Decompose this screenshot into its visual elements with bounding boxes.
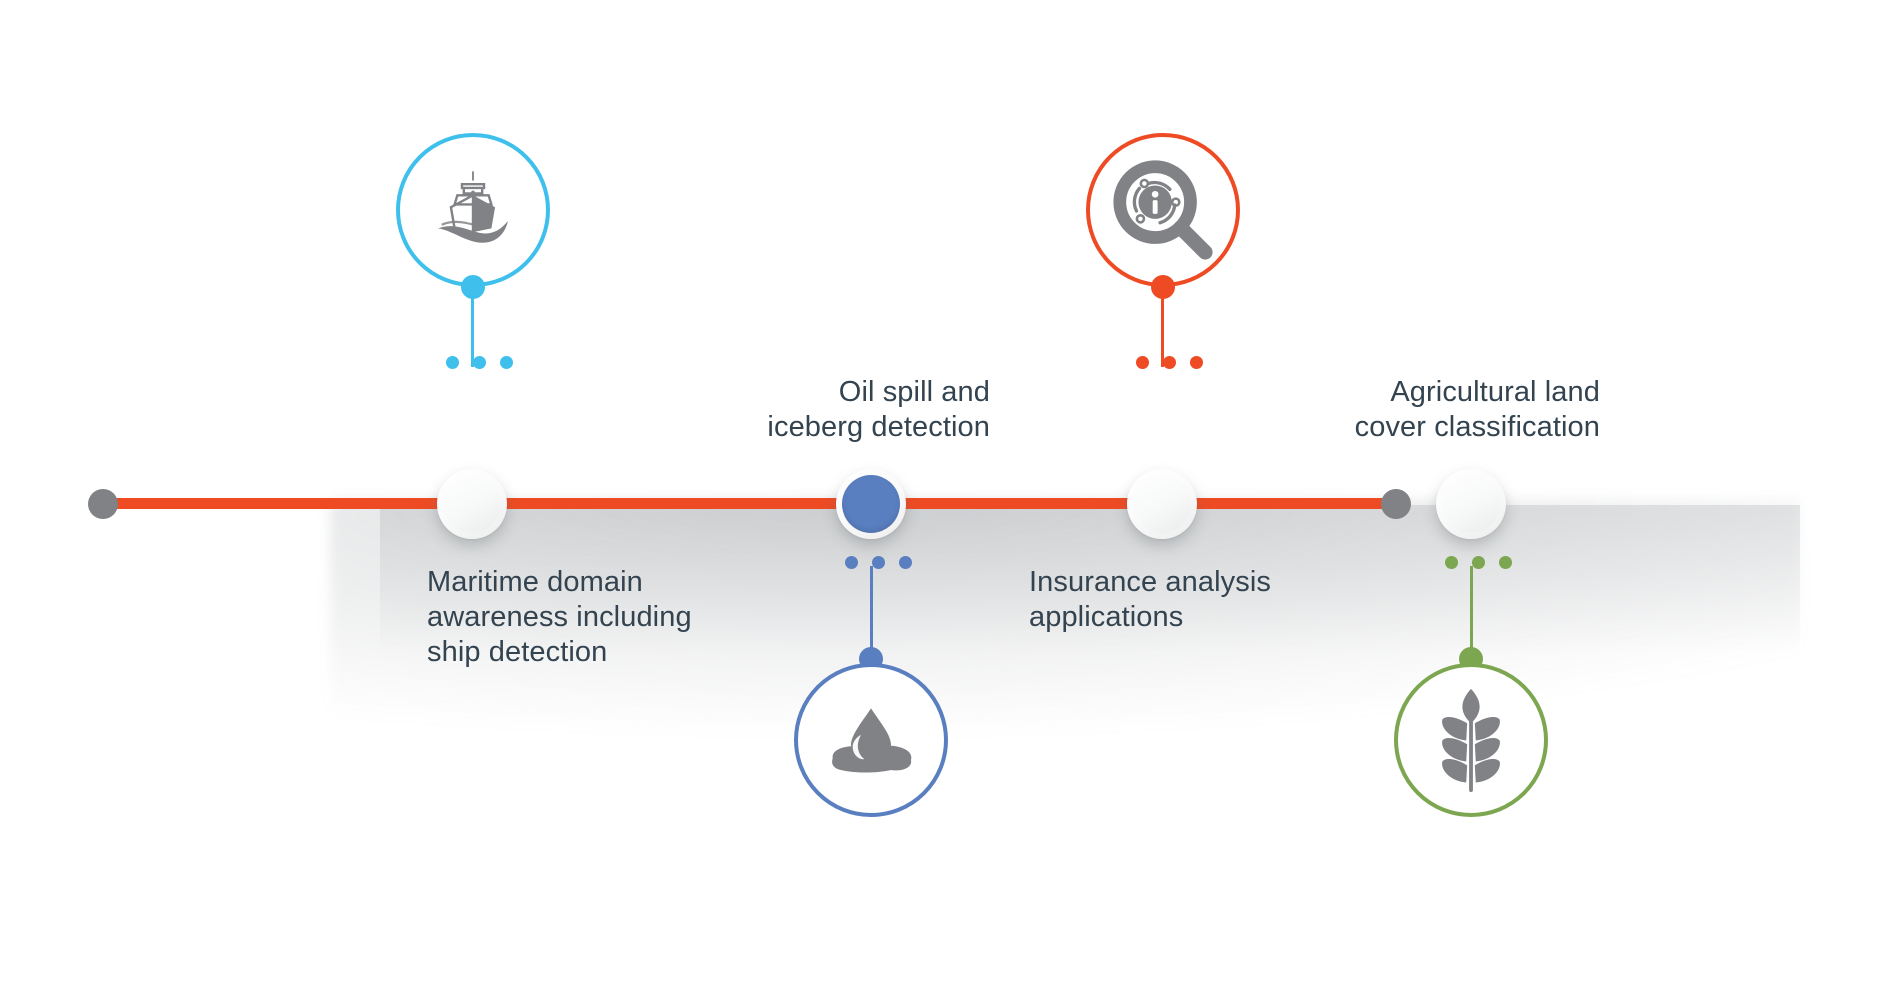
dot (845, 556, 858, 569)
dot (1190, 356, 1203, 369)
dot (1445, 556, 1458, 569)
timeline-diagram: Maritime domain awareness including ship… (0, 0, 1890, 997)
ship-icon (427, 164, 519, 256)
dot (500, 356, 513, 369)
milestone-insurance-icon-bubble[interactable] (1086, 133, 1240, 287)
timeline-rail (108, 498, 1403, 509)
milestone-oil-spill-stem (870, 566, 873, 656)
node-inner (1442, 475, 1500, 533)
milestone-insurance-label: Insurance analysis applications (1029, 565, 1369, 635)
milestone-oil-spill-label: Oil spill and iceberg detection (640, 375, 990, 445)
oil-spill-droplet-icon (821, 697, 921, 783)
dot (1499, 556, 1512, 569)
wheat-stalk-icon (1428, 685, 1514, 795)
magnifier-info-icon (1109, 156, 1217, 264)
milestone-insurance-dots (1136, 356, 1203, 369)
milestone-oil-spill-icon-bubble[interactable] (794, 663, 948, 817)
milestone-agriculture-icon-bubble[interactable] (1394, 663, 1548, 817)
timeline-node-maritime[interactable] (437, 469, 507, 539)
milestone-agriculture-dots (1445, 556, 1512, 569)
milestone-maritime-dots (446, 356, 513, 369)
milestone-maritime-icon-bubble[interactable] (396, 133, 550, 287)
node-inner (443, 475, 501, 533)
milestone-agriculture-stem (1470, 566, 1473, 656)
node-inner (1133, 475, 1191, 533)
dot (1136, 356, 1149, 369)
dot (446, 356, 459, 369)
dot (872, 556, 885, 569)
dot (1472, 556, 1485, 569)
dot (899, 556, 912, 569)
dot (1163, 356, 1176, 369)
timeline-end-cap (1381, 489, 1411, 519)
timeline-node-insurance[interactable] (1127, 469, 1197, 539)
milestone-agriculture-label: Agricultural land cover classification (1250, 375, 1600, 445)
timeline-node-oil-spill[interactable] (836, 469, 906, 539)
milestone-maritime-label: Maritime domain awareness including ship… (427, 565, 757, 670)
dot (473, 356, 486, 369)
milestone-oil-spill-dots (845, 556, 912, 569)
node-inner (842, 475, 900, 533)
timeline-node-agriculture[interactable] (1436, 469, 1506, 539)
timeline-start-cap (88, 489, 118, 519)
